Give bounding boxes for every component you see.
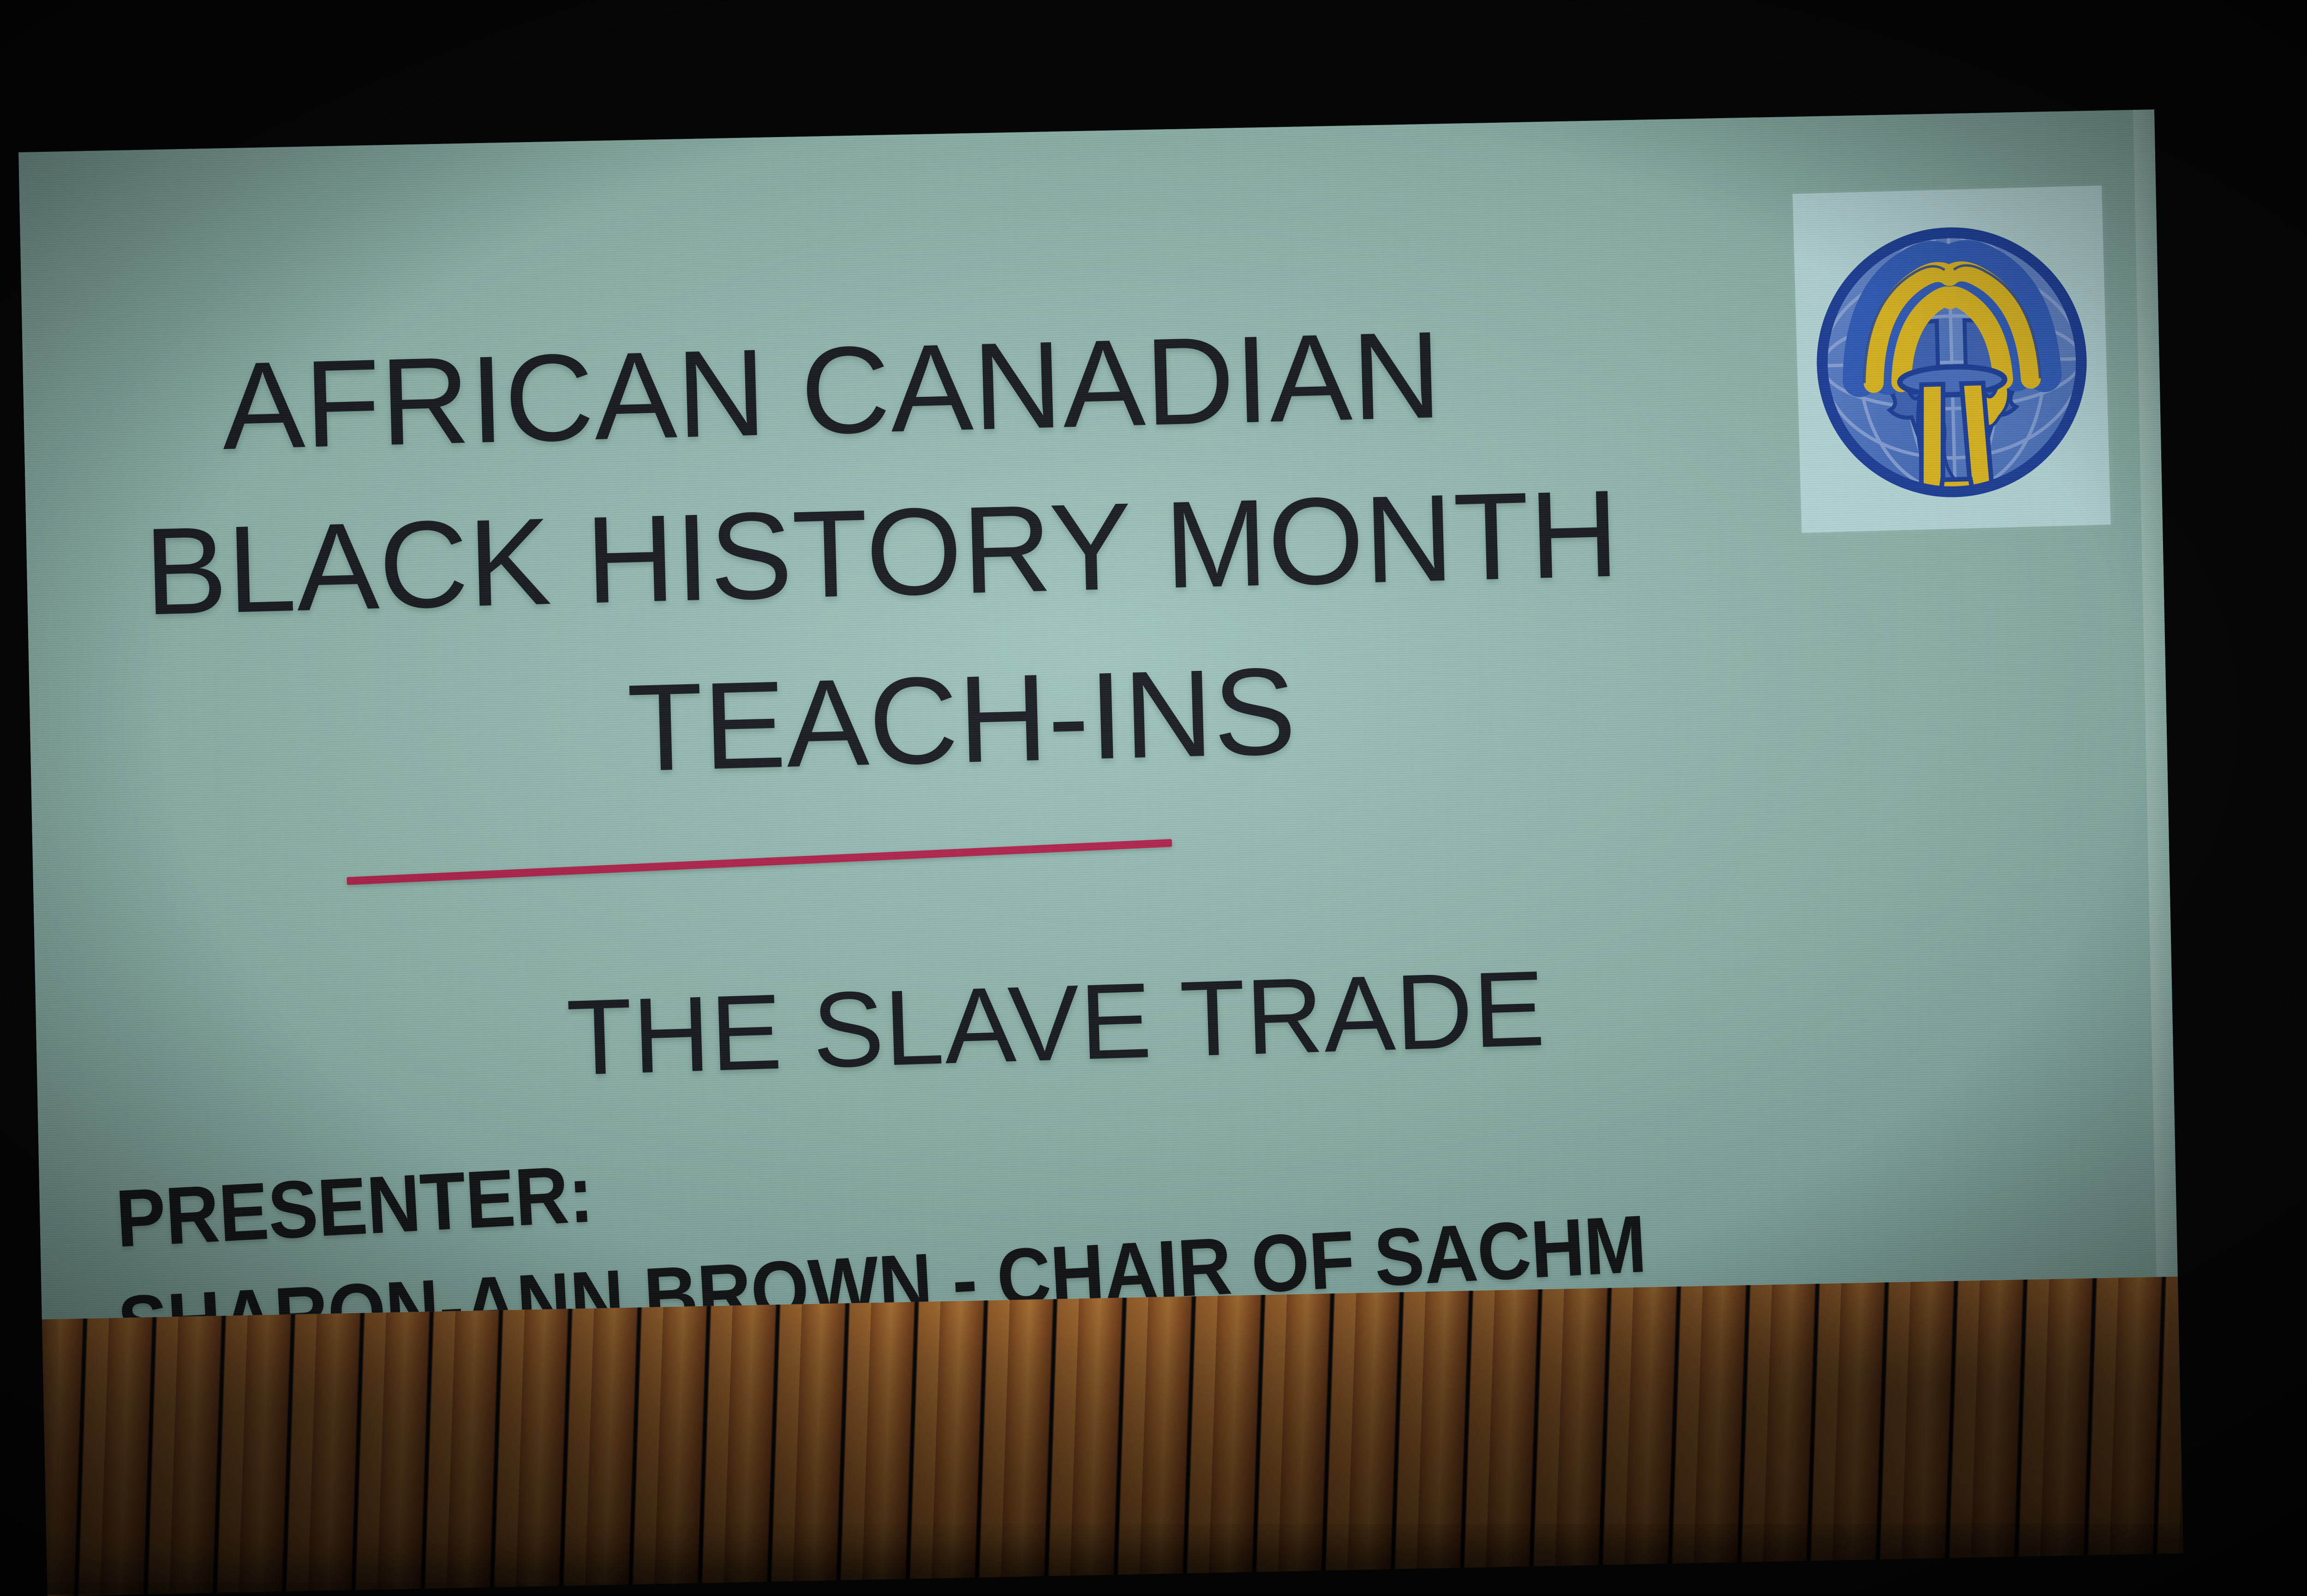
slide-title-line-3: TEACH-INS bbox=[626, 640, 1297, 800]
sachm-globe-pharaoh-icon bbox=[1793, 185, 2111, 533]
crimson-divider-rule bbox=[347, 839, 1172, 885]
presentation-slide: AFRICAN CANADIAN BLACK HISTORY MONTH TEA… bbox=[18, 109, 2178, 1319]
slide-title-line-2: BLACK HISTORY MONTH bbox=[143, 462, 1620, 643]
slide-title-line-1: AFRICAN CANADIAN bbox=[220, 303, 1443, 478]
slide-subtitle: THE SLAVE TRADE bbox=[565, 947, 1547, 1100]
projected-image-area: AFRICAN CANADIAN BLACK HISTORY MONTH TEA… bbox=[18, 109, 2183, 1596]
logo-container bbox=[1793, 185, 2111, 533]
presenter-label: PRESENTER: bbox=[114, 1147, 595, 1266]
